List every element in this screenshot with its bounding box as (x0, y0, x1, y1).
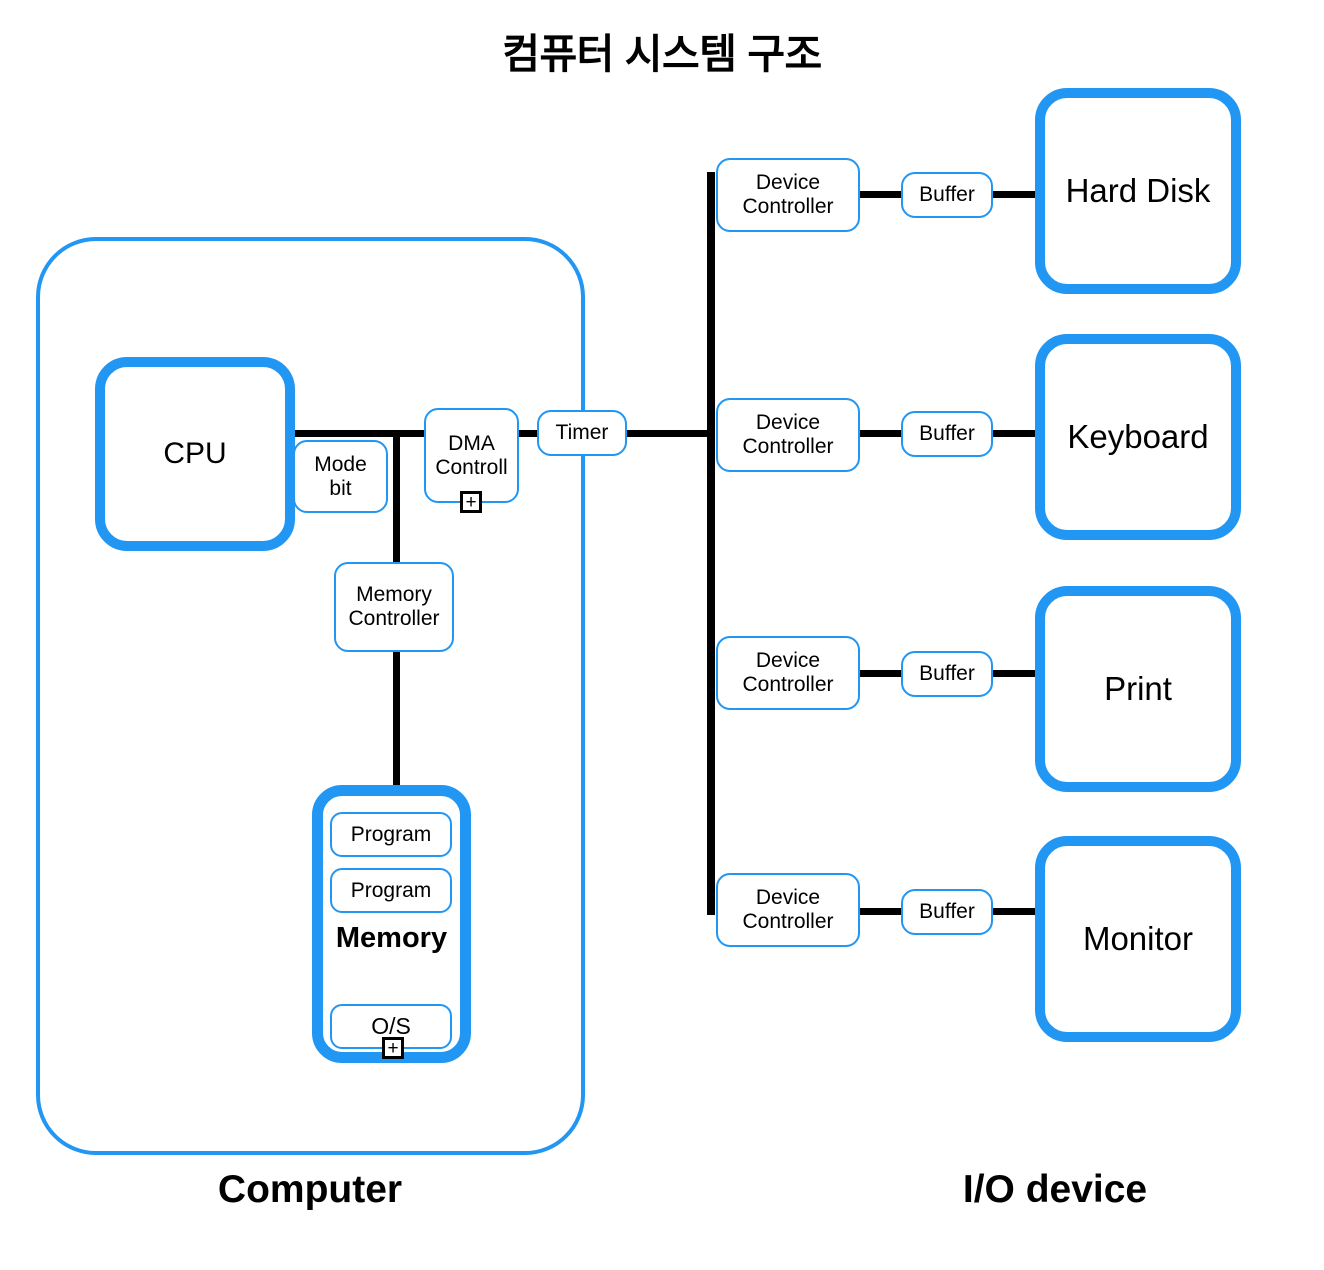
device-box-keyboard[interactable]: Keyboard (1035, 334, 1241, 540)
memory-program-1-label: Program (351, 823, 432, 847)
controller-to-buffer-line-print (856, 670, 906, 677)
cpu-to-dma-line (288, 430, 428, 437)
device-controller-box-keyboard[interactable]: Device Controller (716, 398, 860, 472)
device-box-print[interactable]: Print (1035, 586, 1241, 792)
device-controller-label: Device Controller (727, 411, 849, 459)
computer-section-label: Computer (110, 1168, 510, 1212)
memory-label: Memory (312, 922, 471, 955)
buffer-box-print[interactable]: Buffer (901, 651, 993, 697)
io-section-label: I/O device (855, 1168, 1255, 1212)
memory-controller-to-memory-line (393, 648, 400, 791)
bus-to-memory-controller-line (393, 430, 400, 565)
dma-expand-glyph: + (465, 493, 476, 512)
device-label: Print (1104, 670, 1172, 708)
dma-controller-box[interactable]: DMA Controll (424, 408, 519, 503)
buffer-box-monitor[interactable]: Buffer (901, 889, 993, 935)
memory-controller-label: Memory Controller (345, 583, 443, 631)
device-controller-box-print[interactable]: Device Controller (716, 636, 860, 710)
device-label: Monitor (1083, 920, 1193, 958)
buffer-label: Buffer (919, 900, 975, 924)
controller-to-buffer-line-harddisk (856, 191, 906, 198)
cpu-label: CPU (163, 437, 226, 471)
memory-program-2-box[interactable]: Program (330, 868, 452, 913)
os-expand-glyph: + (387, 1039, 398, 1058)
device-label: Keyboard (1067, 418, 1208, 456)
controller-to-buffer-line-keyboard (856, 430, 906, 437)
device-box-harddisk[interactable]: Hard Disk (1035, 88, 1241, 294)
memory-os-label: O/S (371, 1013, 411, 1039)
buffer-box-keyboard[interactable]: Buffer (901, 411, 993, 457)
buffer-label: Buffer (919, 662, 975, 686)
device-controller-box-harddisk[interactable]: Device Controller (716, 158, 860, 232)
device-label: Hard Disk (1066, 172, 1211, 210)
cpu-box[interactable]: CPU (95, 357, 295, 551)
diagram-canvas: 컴퓨터 시스템 구조 CPU Mode bit DMA Controll + T… (0, 0, 1324, 1270)
io-bus-line (707, 172, 715, 915)
timer-box[interactable]: Timer (537, 410, 627, 456)
page-title: 컴퓨터 시스템 구조 (0, 20, 1324, 80)
memory-program-2-label: Program (351, 879, 432, 903)
device-box-monitor[interactable]: Monitor (1035, 836, 1241, 1042)
buffer-label: Buffer (919, 422, 975, 446)
device-controller-box-monitor[interactable]: Device Controller (716, 873, 860, 947)
timer-label: Timer (556, 421, 609, 445)
device-controller-label: Device Controller (727, 886, 849, 934)
controller-to-buffer-line-monitor (856, 908, 906, 915)
buffer-label: Buffer (919, 183, 975, 207)
buffer-box-harddisk[interactable]: Buffer (901, 172, 993, 218)
dma-controller-label: DMA Controll (433, 432, 511, 480)
dma-expand-icon[interactable]: + (460, 491, 482, 513)
device-controller-label: Device Controller (727, 649, 849, 697)
timer-to-bus-line (620, 430, 715, 437)
os-expand-icon[interactable]: + (382, 1037, 404, 1059)
device-controller-label: Device Controller (727, 171, 849, 219)
memory-controller-box[interactable]: Memory Controller (334, 562, 454, 652)
mode-bit-label: Mode bit (307, 453, 375, 501)
memory-program-1-box[interactable]: Program (330, 812, 452, 857)
mode-bit-box[interactable]: Mode bit (293, 440, 388, 513)
